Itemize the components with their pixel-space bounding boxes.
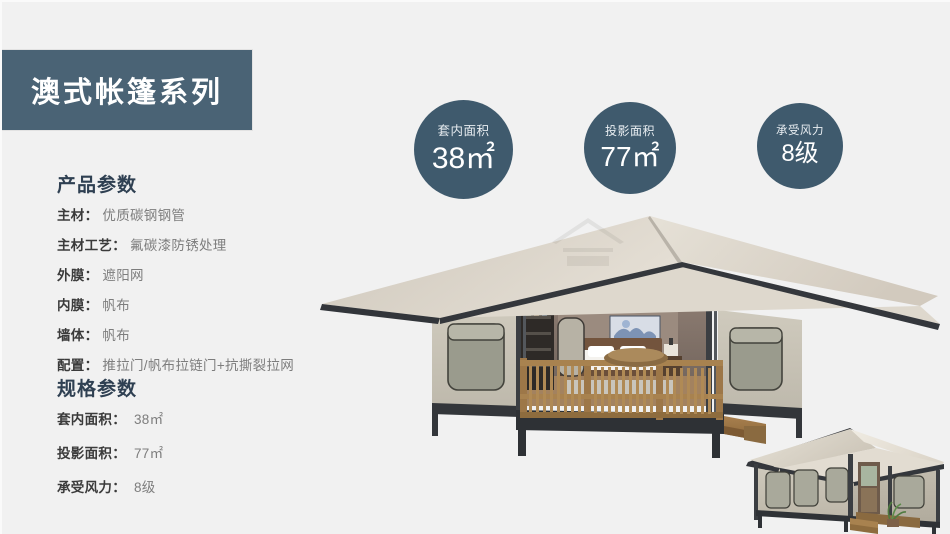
tent-left-wall	[432, 308, 520, 436]
param-label: 配置：	[57, 354, 98, 374]
param-label: 承受风力：	[57, 476, 126, 496]
stat-circle-interior-area: 套内面积 38㎡	[414, 100, 513, 199]
param-value: 77㎡	[134, 442, 163, 462]
series-title-banner: 澳式帐篷系列	[2, 50, 252, 130]
param-value: 帆布	[102, 324, 130, 344]
series-title-text: 澳式帐篷系列	[31, 69, 223, 111]
stat-circle-wind-rating: 承受风力 8级	[757, 103, 843, 189]
param-label: 外膜：	[57, 264, 98, 284]
stat-label: 套内面积	[437, 125, 489, 138]
param-label: 套内面积：	[57, 408, 126, 428]
param-label: 投影面积：	[57, 442, 126, 462]
param-value: 优质碳钢钢管	[102, 204, 185, 224]
param-label: 主材：	[57, 204, 98, 224]
stat-label: 投影面积	[605, 125, 655, 137]
param-value: 推拉门/帆布拉链门+抗撕裂拉网	[102, 354, 294, 374]
stat-value: 38㎡	[432, 144, 495, 174]
tent-roof	[320, 216, 940, 330]
spec-params-heading: 规格参数	[57, 374, 137, 401]
param-value: 8级	[134, 476, 156, 496]
param-row: 承受风力： 8级	[57, 476, 387, 496]
product-params-heading: 产品参数	[57, 170, 137, 197]
param-value: 帆布	[102, 294, 130, 314]
slide-canvas: 澳式帐篷系列 产品参数 主材： 优质碳钢钢管 主材工艺： 氟碳漆防锈处理 外膜：…	[0, 0, 950, 534]
param-label: 内膜：	[57, 294, 98, 314]
param-label: 主材工艺：	[57, 234, 126, 254]
stat-value: 8级	[781, 142, 818, 166]
param-value: 遮阳网	[102, 264, 143, 284]
param-label: 墙体：	[57, 324, 98, 344]
thumb-tent-image	[744, 418, 950, 534]
stat-value: 77㎡	[600, 143, 659, 171]
param-value: 38㎡	[134, 408, 163, 428]
param-value: 氟碳漆防锈处理	[130, 234, 227, 254]
stat-circle-projected-area: 投影面积 77㎡	[584, 102, 676, 194]
stat-label: 承受风力	[776, 126, 824, 138]
